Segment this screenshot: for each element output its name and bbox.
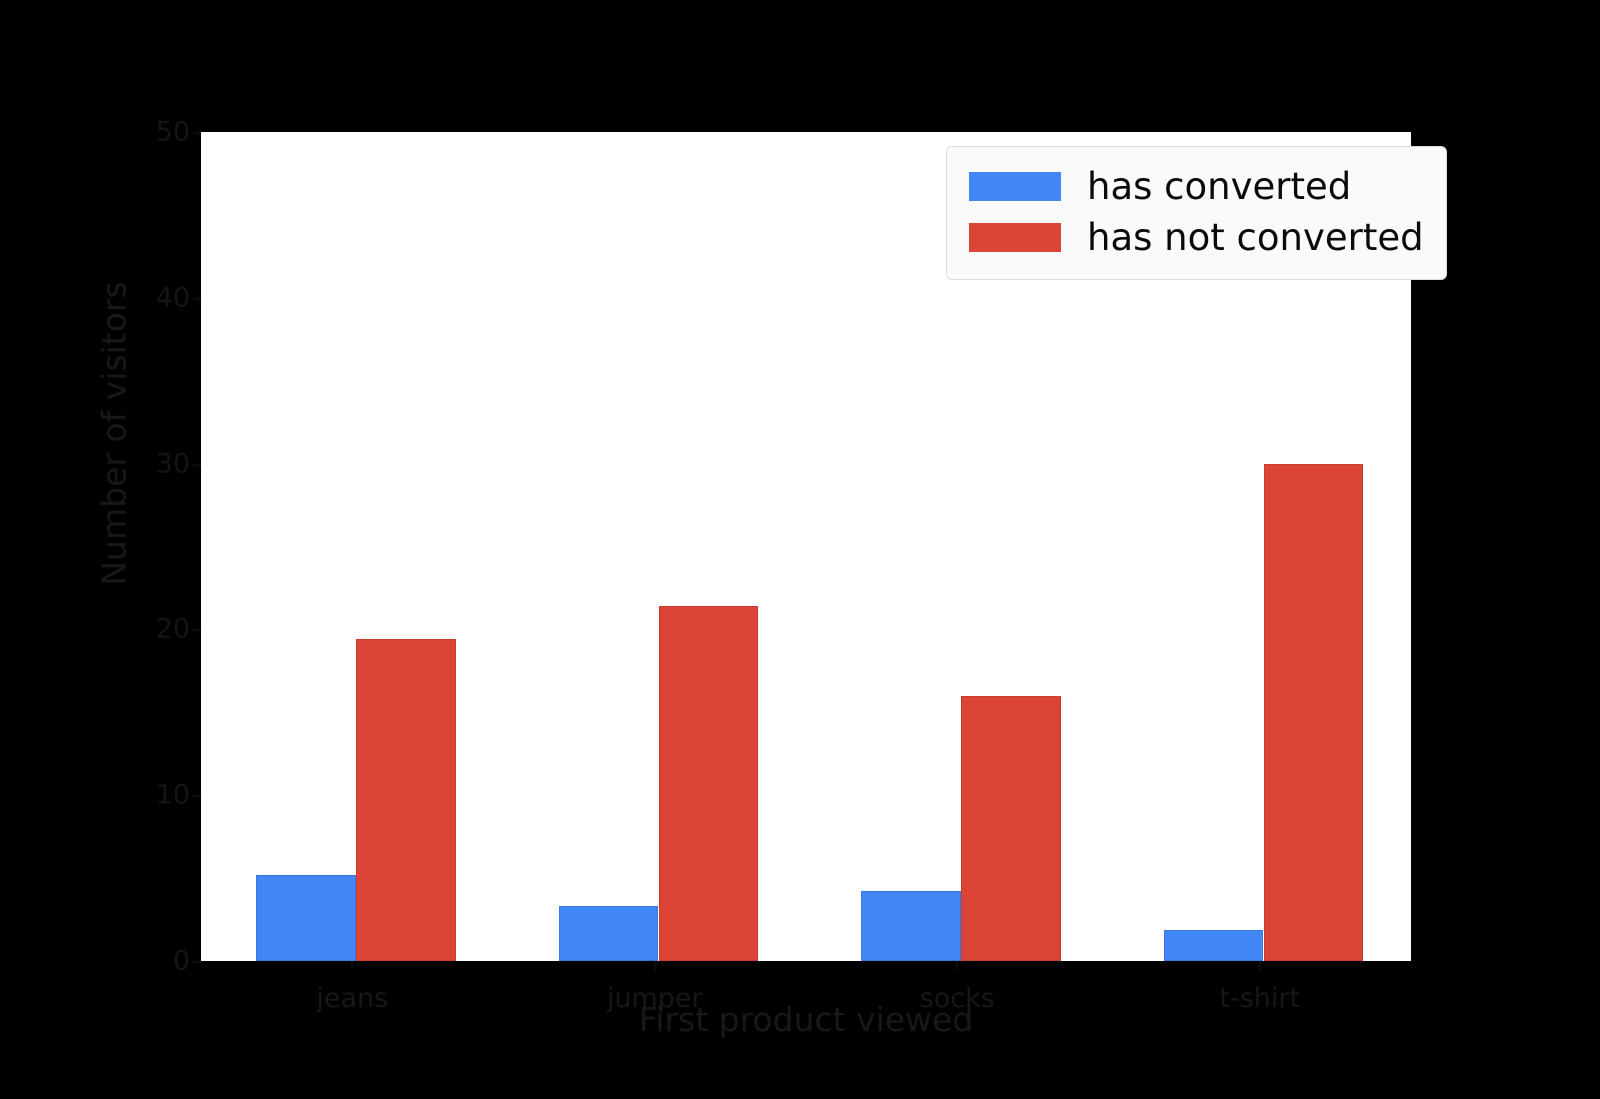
bar-socks-converted — [861, 891, 961, 961]
xtick-mark-jumper — [654, 961, 656, 970]
legend-entry-not-converted[interactable]: has not converted — [969, 212, 1424, 263]
ytick-label: 0 — [0, 946, 190, 977]
bar-jeans-converted — [256, 875, 356, 961]
y-axis-title: Number of visitors — [95, 54, 134, 814]
chart-legend[interactable]: has converted has not converted — [946, 146, 1447, 280]
bar-tshirt-converted — [1164, 930, 1264, 962]
bar-socks-not-converted — [961, 696, 1061, 961]
ytick-mark — [193, 961, 201, 963]
bar-jumper-converted — [559, 906, 659, 961]
bar-tshirt-not-converted — [1264, 464, 1364, 961]
bar-jumper-not-converted — [659, 606, 759, 961]
x-axis-title: First product viewed — [201, 1000, 1411, 1039]
bar-jeans-not-converted — [356, 639, 456, 961]
legend-label: has converted — [1087, 168, 1351, 205]
ytick-mark — [193, 132, 201, 134]
legend-swatch-icon — [969, 223, 1061, 252]
xtick-mark-socks — [956, 961, 958, 970]
ytick-mark — [193, 795, 201, 797]
xtick-mark-jeans — [351, 961, 353, 970]
legend-label: has not converted — [1087, 219, 1424, 256]
legend-entry-converted[interactable]: has converted — [969, 161, 1424, 212]
ytick-mark — [193, 464, 201, 466]
legend-swatch-icon — [969, 172, 1061, 201]
xtick-mark-tshirt — [1259, 961, 1261, 970]
figure-canvas: 0 10 20 30 40 50 jeans jumper socks — [0, 0, 1600, 1099]
ytick-mark — [193, 298, 201, 300]
ytick-mark — [193, 629, 201, 631]
